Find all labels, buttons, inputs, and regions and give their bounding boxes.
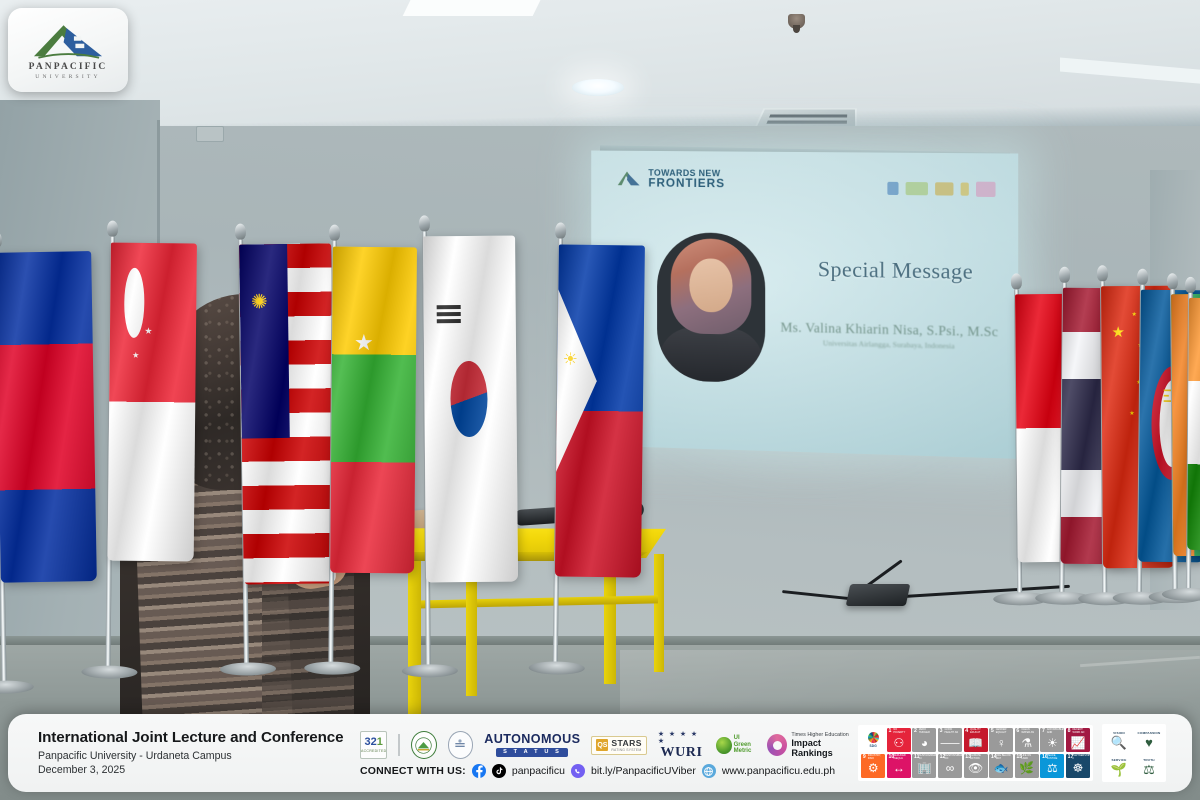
- screen-vignette: [591, 151, 1018, 459]
- wall-vent: [196, 126, 224, 142]
- event-info-block: International Joint Lecture and Conferen…: [8, 729, 360, 777]
- sdg-goal-5: 5GENDER EQUALIT♀: [989, 728, 1013, 752]
- mountain-peak-logo-icon: [31, 20, 105, 60]
- slide-brand-text: TOWARDS NEW FRONTIERS: [648, 169, 725, 189]
- social-media-row: CONNECT WITH US: panpacificu: [360, 764, 858, 778]
- ceiling-soffit: [403, 0, 548, 16]
- 321-badge-text: 321: [365, 737, 383, 748]
- floor-power-box: [846, 584, 911, 606]
- university-logo-name: PANPACIFIC: [29, 62, 108, 72]
- conference-photo-frame: ★★✺★☀★★★★★☲★ TOWARDS NEW FRONTIERS: [0, 0, 1200, 800]
- partner-logo-5: [976, 182, 996, 197]
- partner-logo-1: [887, 182, 898, 195]
- qs-stars-logo: QS STARS RATING SYSTEM: [591, 736, 647, 755]
- sdg-goal-15: 15LIFE ON LAND🌿: [1015, 754, 1039, 778]
- 321-badge-sub: ACCREDITED: [361, 749, 386, 753]
- sdg-goals-grid: SDG1NO POVERTY⚇2ZERO HUNGER◕3GOOD HEALTH…: [858, 725, 1093, 781]
- sdg-goal-17: 17PARTNERSHIPS F☸: [1066, 754, 1090, 778]
- sdg-goal-13: 13CLIMATE ACTION👁: [964, 754, 988, 778]
- ceiling-downlight: [572, 79, 624, 96]
- sdg-goal-1: 1NO POVERTY⚇: [887, 728, 911, 752]
- autonomous-status-logo: AUTONOMOUS S T A T U S: [484, 733, 580, 756]
- sdg-wheel-icon: SDG: [861, 728, 885, 752]
- sdg-goal-3: 3GOOD HEALTH AN⸺: [938, 728, 962, 752]
- social-handle-viber: bit.ly/PanpacificUViber: [591, 765, 696, 777]
- 321-accreditation-badge: 321 ACCREDITED: [360, 731, 387, 759]
- sdg-goal-2: 2ZERO HUNGER◕: [912, 728, 936, 752]
- ui-greenmetric-logo: UI Green Metric: [716, 735, 756, 754]
- table-leg: [654, 554, 664, 672]
- flag-cambodia: [0, 245, 96, 687]
- wuri-stars: ★ ★ ★ ★ ★: [658, 731, 705, 745]
- wuri-title: WURI: [660, 745, 702, 760]
- lower-third-info-bar: International Joint Lecture and Conferen…: [8, 714, 1192, 792]
- paascu-seal-icon: [411, 731, 437, 759]
- greenmetric-line1: UI Green: [734, 735, 757, 748]
- greenmetric-line2: Metric: [734, 748, 757, 754]
- core-value-vision: VISION🔍: [1105, 727, 1133, 752]
- wuri-ranking-logo: ★ ★ ★ ★ ★ WURI: [658, 731, 705, 760]
- green-globe-icon: [716, 737, 731, 754]
- flag-singapore: ★★: [103, 236, 194, 673]
- flag-myanmar: ★: [326, 240, 414, 669]
- partner-logo-4: [961, 182, 969, 195]
- event-date: December 3, 2025: [38, 763, 360, 777]
- university-logo-card: PANPACIFIC UNIVERSITY: [8, 8, 128, 92]
- event-title: International Joint Lecture and Conferen…: [38, 729, 360, 747]
- sdg-goal-10: 10REDUCED INEQUA↔: [887, 754, 911, 778]
- divider: [398, 734, 399, 756]
- the-line2: Impact Rankings: [791, 738, 858, 758]
- slide-brand-line2: FRONTIERS: [648, 178, 725, 188]
- sdg-goal-6: 6CLEAN WATER AN⚗: [1015, 728, 1039, 752]
- sdg-goal-7: 7AFFORDABLE AND☀: [1040, 728, 1064, 752]
- flag-india: [1184, 292, 1200, 594]
- core-value-service: SERVICE🌱: [1105, 754, 1133, 779]
- accreditation-logo-row: 321 ACCREDITED: [360, 730, 858, 760]
- tiktok-icon[interactable]: [492, 764, 506, 778]
- event-venue: Panpacific University - Urdaneta Campus: [38, 749, 360, 763]
- university-logo-subtitle: UNIVERSITY: [35, 74, 101, 80]
- slide-speaker-portrait: [657, 232, 765, 383]
- slide-brand-logo: TOWARDS NEW FRONTIERS: [616, 168, 725, 188]
- social-handle-website: www.panpacificu.edu.ph: [722, 765, 835, 777]
- projection-screen: TOWARDS NEW FRONTIERS Special Message Ms…: [591, 151, 1018, 459]
- autonomous-title: AUTONOMOUS: [484, 733, 580, 746]
- facebook-icon[interactable]: [472, 764, 486, 778]
- sdg-goal-4: 4QUALITY EDUCAT📖: [964, 728, 988, 752]
- sdg-goal-11: 11SUSTAINABLE CI🏢: [912, 754, 936, 778]
- the-impact-rankings-logo: Times Higher Education Impact Rankings: [767, 732, 858, 758]
- fire-sprinkler-icon: [788, 14, 805, 29]
- the-swirl-icon: [767, 734, 787, 756]
- viber-icon[interactable]: [571, 764, 585, 778]
- sdg-goal-16: 16PEACE, JUSTICE⚖: [1040, 754, 1064, 778]
- mountain-peak-icon: [616, 168, 641, 187]
- social-handle-tiktok: panpacificu: [512, 765, 565, 777]
- sdg-goal-8: 8DECENT WORK AN📈: [1066, 728, 1090, 752]
- core-values-grid: VISION🔍COMPASSION♥SERVICE🌱TRUTH⚖: [1102, 724, 1166, 782]
- qs-stars-title: STARS: [611, 739, 642, 748]
- autonomous-subtitle: S T A T U S: [496, 748, 568, 757]
- slide-partner-logos: [887, 181, 995, 197]
- connect-with-us-label: CONNECT WITH US:: [360, 765, 466, 777]
- sdg-and-values-block: SDG1NO POVERTY⚇2ZERO HUNGER◕3GOOD HEALTH…: [858, 724, 1192, 782]
- ched-seal-icon: [448, 731, 474, 759]
- partner-logo-3: [935, 182, 953, 195]
- partner-logo-2: [906, 182, 928, 195]
- qs-stars-sub: RATING SYSTEM: [611, 748, 642, 752]
- core-value-compassion: COMPASSION♥: [1135, 727, 1163, 752]
- sdg-goal-9: 9INDUSTRY, INNO⚙: [861, 754, 885, 778]
- event-photograph: ★★✺★☀★★★★★☲★ TOWARDS NEW FRONTIERS: [0, 0, 1200, 800]
- slide-title: Special Message: [787, 256, 1005, 286]
- qs-mark: QS: [596, 739, 608, 751]
- core-value-truth: TRUTH⚖: [1135, 754, 1163, 779]
- sdg-goal-12: 12RESPONSIBLE CO∞: [938, 754, 962, 778]
- globe-icon[interactable]: [702, 764, 716, 778]
- flag-philippines: ☀: [551, 237, 642, 668]
- flag-malaysia: ✺: [236, 237, 334, 668]
- sdg-goal-14: 14LIFE BELOW WAT🐟: [989, 754, 1013, 778]
- flag-south-korea: [420, 230, 516, 671]
- accreditation-and-social-block: 321 ACCREDITED: [360, 728, 858, 778]
